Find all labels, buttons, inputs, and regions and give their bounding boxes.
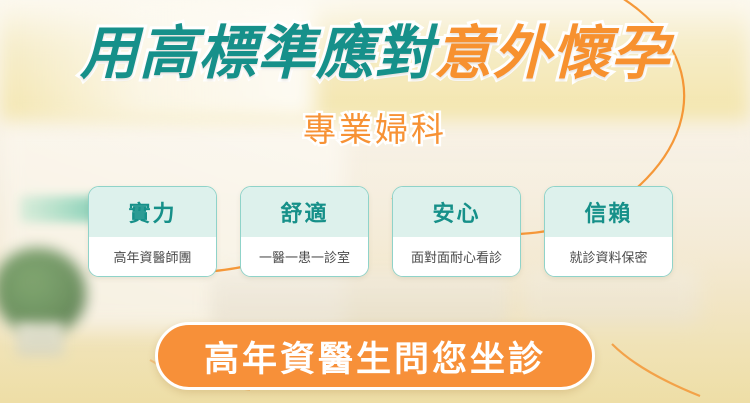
headline-part-orange: 意外懷孕 bbox=[434, 19, 670, 87]
feature-card-strength[interactable]: 實力 高年資醫師團 bbox=[88, 186, 217, 277]
feature-card-list: 實力 高年資醫師團 舒適 一醫一患一診室 安心 面對面耐心看診 信賴 bbox=[88, 186, 673, 275]
feature-card-header: 信賴 bbox=[545, 187, 672, 237]
feature-card-header: 安心 bbox=[393, 187, 520, 237]
headline: 用高標準應對意外懷孕 bbox=[0, 22, 750, 84]
feature-card-reassurance[interactable]: 安心 面對面耐心看診 bbox=[392, 186, 521, 277]
feature-card-trust[interactable]: 信賴 就診資料保密 bbox=[544, 186, 673, 277]
feature-card-title: 實力 bbox=[128, 196, 176, 228]
subtitle: 專業婦科 bbox=[0, 110, 750, 150]
promo-banner: 用高標準應對意外懷孕 專業婦科 實力 高年資醫師團 舒適 一醫一患一診室 安心 bbox=[0, 0, 750, 403]
feature-card-title: 信賴 bbox=[584, 196, 632, 228]
feature-card-title: 安心 bbox=[432, 196, 480, 228]
feature-card-comfort[interactable]: 舒適 一醫一患一診室 bbox=[240, 186, 369, 277]
feature-card-body: 就診資料保密 bbox=[545, 237, 672, 276]
feature-card-desc: 一醫一患一診室 bbox=[259, 247, 350, 266]
feature-card-desc: 高年資醫師團 bbox=[113, 247, 191, 266]
cta-button-label: 高年資醫生問您坐診 bbox=[204, 331, 546, 382]
feature-card-desc: 就診資料保密 bbox=[569, 247, 647, 266]
feature-card-title: 舒適 bbox=[280, 196, 328, 228]
feature-card-body: 高年資醫師團 bbox=[89, 237, 216, 276]
feature-card-header: 舒適 bbox=[241, 187, 368, 237]
feature-card-body: 一醫一患一診室 bbox=[241, 237, 368, 276]
feature-card-header: 實力 bbox=[89, 187, 216, 237]
cta-button[interactable]: 高年資醫生問您坐診 bbox=[155, 322, 595, 390]
feature-card-body: 面對面耐心看診 bbox=[393, 237, 520, 276]
headline-part-teal: 用高標準應對 bbox=[80, 19, 434, 87]
feature-card-desc: 面對面耐心看診 bbox=[411, 247, 502, 266]
